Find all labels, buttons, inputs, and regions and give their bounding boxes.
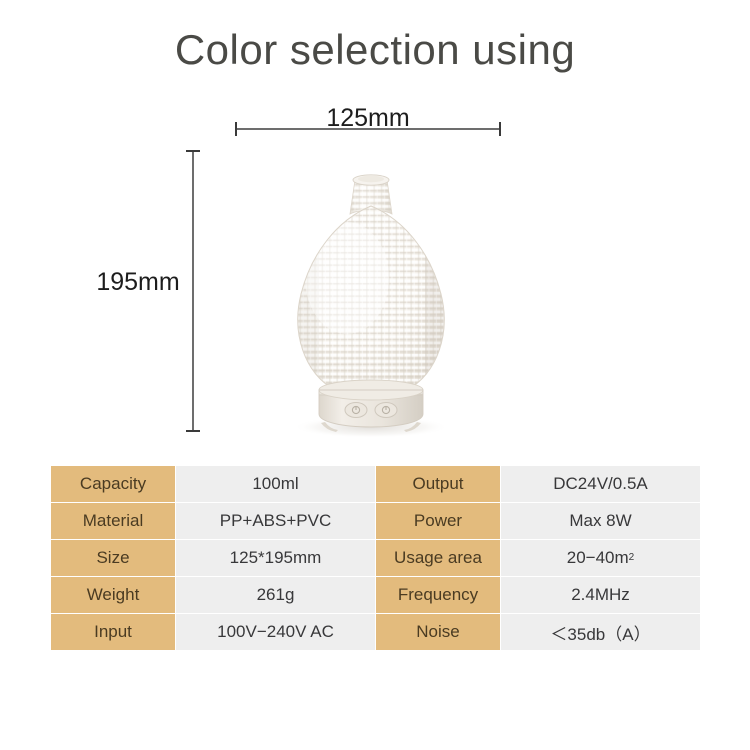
spec-value-size: 125*195mm xyxy=(176,540,375,576)
spec-value-input: 100V−240V AC xyxy=(176,614,375,650)
spec-label-frequency: Frequency xyxy=(376,577,500,613)
table-row: Noise ＜35db（A） xyxy=(376,614,700,650)
spec-label-input: Input xyxy=(51,614,175,650)
spec-label-weight: Weight xyxy=(51,577,175,613)
spec-table-right: Output DC24V/0.5A Power Max 8W Usage are… xyxy=(376,466,700,650)
spec-label-noise: Noise xyxy=(376,614,500,650)
spec-table-left: Capacity 100ml Material PP+ABS+PVC Size … xyxy=(51,466,375,650)
spec-label-capacity: Capacity xyxy=(51,466,175,502)
mist-button xyxy=(375,403,397,418)
spec-value-noise: ＜35db（A） xyxy=(501,614,700,650)
spec-value-output: DC24V/0.5A xyxy=(501,466,700,502)
height-dimension-line xyxy=(192,150,194,432)
table-row: Material PP+ABS+PVC xyxy=(51,503,375,539)
spec-label-usage-area: Usage area xyxy=(376,540,500,576)
height-dimension-cap-bottom xyxy=(186,430,200,432)
height-dimension-cap-top xyxy=(186,150,200,152)
width-dimension-cap-right xyxy=(499,122,501,136)
width-dimension-line xyxy=(235,128,501,130)
width-dimension-cap-left xyxy=(235,122,237,136)
table-row: Output DC24V/0.5A xyxy=(376,466,700,502)
table-row: Power Max 8W xyxy=(376,503,700,539)
product-image xyxy=(255,168,487,438)
spec-value-material: PP+ABS+PVC xyxy=(176,503,375,539)
spec-value-usage-area: 20−40m2 xyxy=(501,540,700,576)
table-row: Size 125*195mm xyxy=(51,540,375,576)
table-row: Input 100V−240V AC xyxy=(51,614,375,650)
spec-label-material: Material xyxy=(51,503,175,539)
spec-label-size: Size xyxy=(51,540,175,576)
table-row: Weight 261g xyxy=(51,577,375,613)
table-row: Capacity 100ml xyxy=(51,466,375,502)
spec-value-frequency: 2.4MHz xyxy=(501,577,700,613)
table-row: Frequency 2.4MHz xyxy=(376,577,700,613)
spec-label-output: Output xyxy=(376,466,500,502)
spec-label-power: Power xyxy=(376,503,500,539)
height-dimension-label: 195mm xyxy=(78,268,198,297)
product-body xyxy=(285,202,461,404)
specification-tables: Capacity 100ml Material PP+ABS+PVC Size … xyxy=(51,466,700,650)
table-row: Usage area 20−40m2 xyxy=(376,540,700,576)
power-button xyxy=(345,403,367,418)
spec-value-weight: 261g xyxy=(176,577,375,613)
page-title: Color selection using xyxy=(0,26,750,74)
spec-value-capacity: 100ml xyxy=(176,466,375,502)
spec-value-power: Max 8W xyxy=(501,503,700,539)
usage-area-number: 20−40m xyxy=(567,548,629,568)
